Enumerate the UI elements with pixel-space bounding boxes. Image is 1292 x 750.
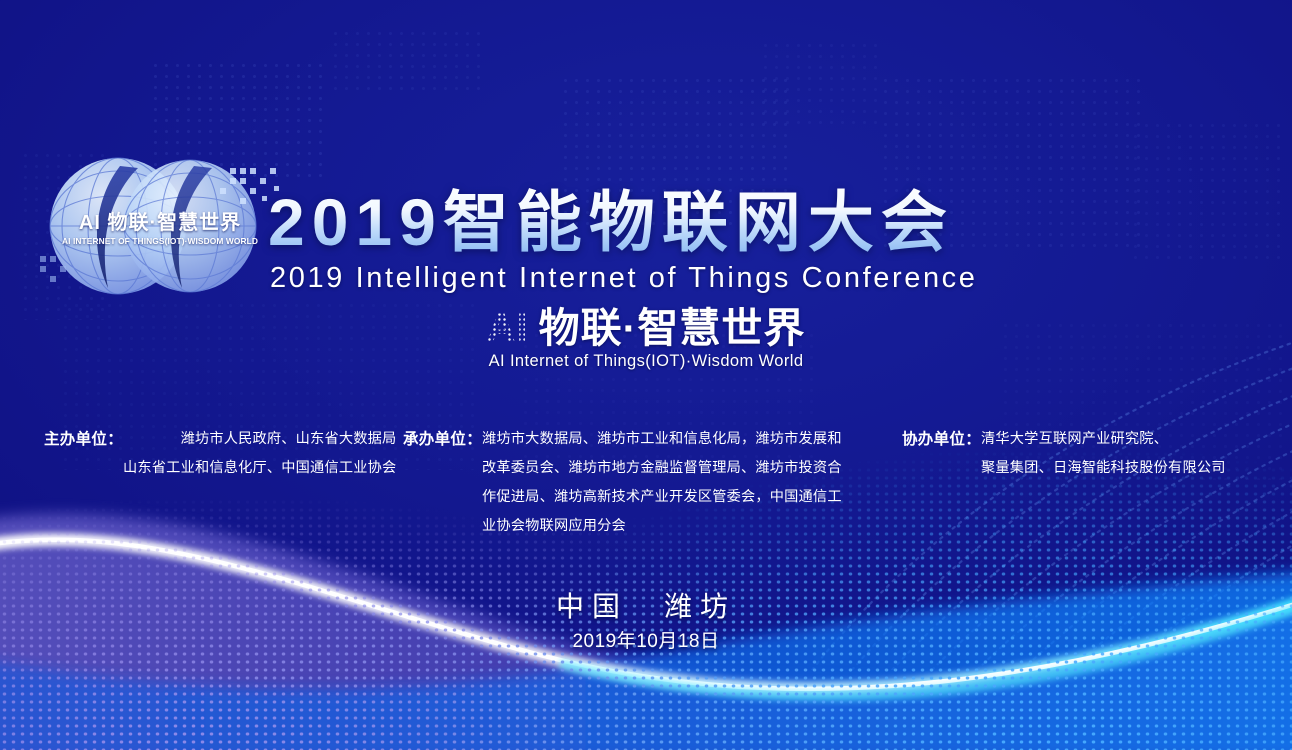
- support-line: 清华大学互联网产业研究院、: [981, 425, 1226, 454]
- brand-chinese-text: 物联·智慧世界: [539, 306, 806, 350]
- host-label: 主办单位：: [44, 425, 123, 454]
- logo-chinese-text: AI 物联·智慧世界: [42, 212, 278, 234]
- page-subtitle-english: 2019 Intelligent Internet of Things Conf…: [270, 262, 978, 295]
- host-line: 潍坊市人民政府、山东省大数据局: [123, 425, 396, 454]
- conference-banner: AI 物联·智慧世界 AI INTERNET OF THINGS(IOT)·WI…: [0, 0, 1292, 750]
- dot-matrix-block: [330, 28, 480, 98]
- host-body: 潍坊市人民政府、山东省大数据局 山东省工业和信息化厅、中国通信工业协会: [123, 425, 396, 483]
- brand-ai-text: AI: [487, 307, 529, 349]
- logo-english-text: AI INTERNET OF THINGS(IOT)·WISDOM WORLD: [42, 235, 278, 247]
- support-body: 清华大学互联网产业研究院、 聚量集团、日海智能科技股份有限公司: [981, 425, 1226, 483]
- organizer-column-support: 协办单位： 清华大学互联网产业研究院、 聚量集团、日海智能科技股份有限公司: [902, 425, 1226, 483]
- event-footer: 中国 潍坊 2019年10月18日: [0, 588, 1292, 656]
- organizer-line: 潍坊市大数据局、潍坊市工业和信息化局，潍坊市发展和改革委员会、潍坊市地方金融监督…: [482, 425, 854, 541]
- organizer-body: 潍坊市大数据局、潍坊市工业和信息化局，潍坊市发展和改革委员会、潍坊市地方金融监督…: [482, 425, 854, 541]
- dot-matrix-block: [760, 40, 880, 130]
- event-location: 中国 潍坊: [0, 588, 1292, 626]
- logo-text-block: AI 物联·智慧世界 AI INTERNET OF THINGS(IOT)·WI…: [42, 212, 278, 247]
- conference-logo: AI 物联·智慧世界 AI INTERNET OF THINGS(IOT)·WI…: [34, 152, 284, 308]
- organizer-label: 承办单位：: [403, 425, 482, 454]
- brand-english-text: AI Internet of Things(IOT)·Wisdom World: [0, 352, 1292, 371]
- dot-matrix-block: [1130, 120, 1280, 260]
- support-label: 协办单位：: [902, 425, 981, 454]
- host-line: 山东省工业和信息化厅、中国通信工业协会: [123, 454, 396, 483]
- organizer-section: 主办单位： 潍坊市人民政府、山东省大数据局 山东省工业和信息化厅、中国通信工业协…: [0, 425, 1292, 535]
- organizer-column-organizer: 承办单位： 潍坊市大数据局、潍坊市工业和信息化局，潍坊市发展和改革委员会、潍坊市…: [403, 425, 854, 541]
- brand-lockup: AI 物联·智慧世界 AI Internet of Things(IOT)·Wi…: [0, 306, 1292, 371]
- brand-main-row: AI 物联·智慧世界: [487, 306, 806, 350]
- page-title: 2019智能物联网大会: [268, 183, 954, 261]
- support-line: 聚量集团、日海智能科技股份有限公司: [981, 454, 1226, 483]
- event-date: 2019年10月18日: [0, 628, 1292, 656]
- organizer-column-host: 主办单位： 潍坊市人民政府、山东省大数据局 山东省工业和信息化厅、中国通信工业协…: [44, 425, 396, 483]
